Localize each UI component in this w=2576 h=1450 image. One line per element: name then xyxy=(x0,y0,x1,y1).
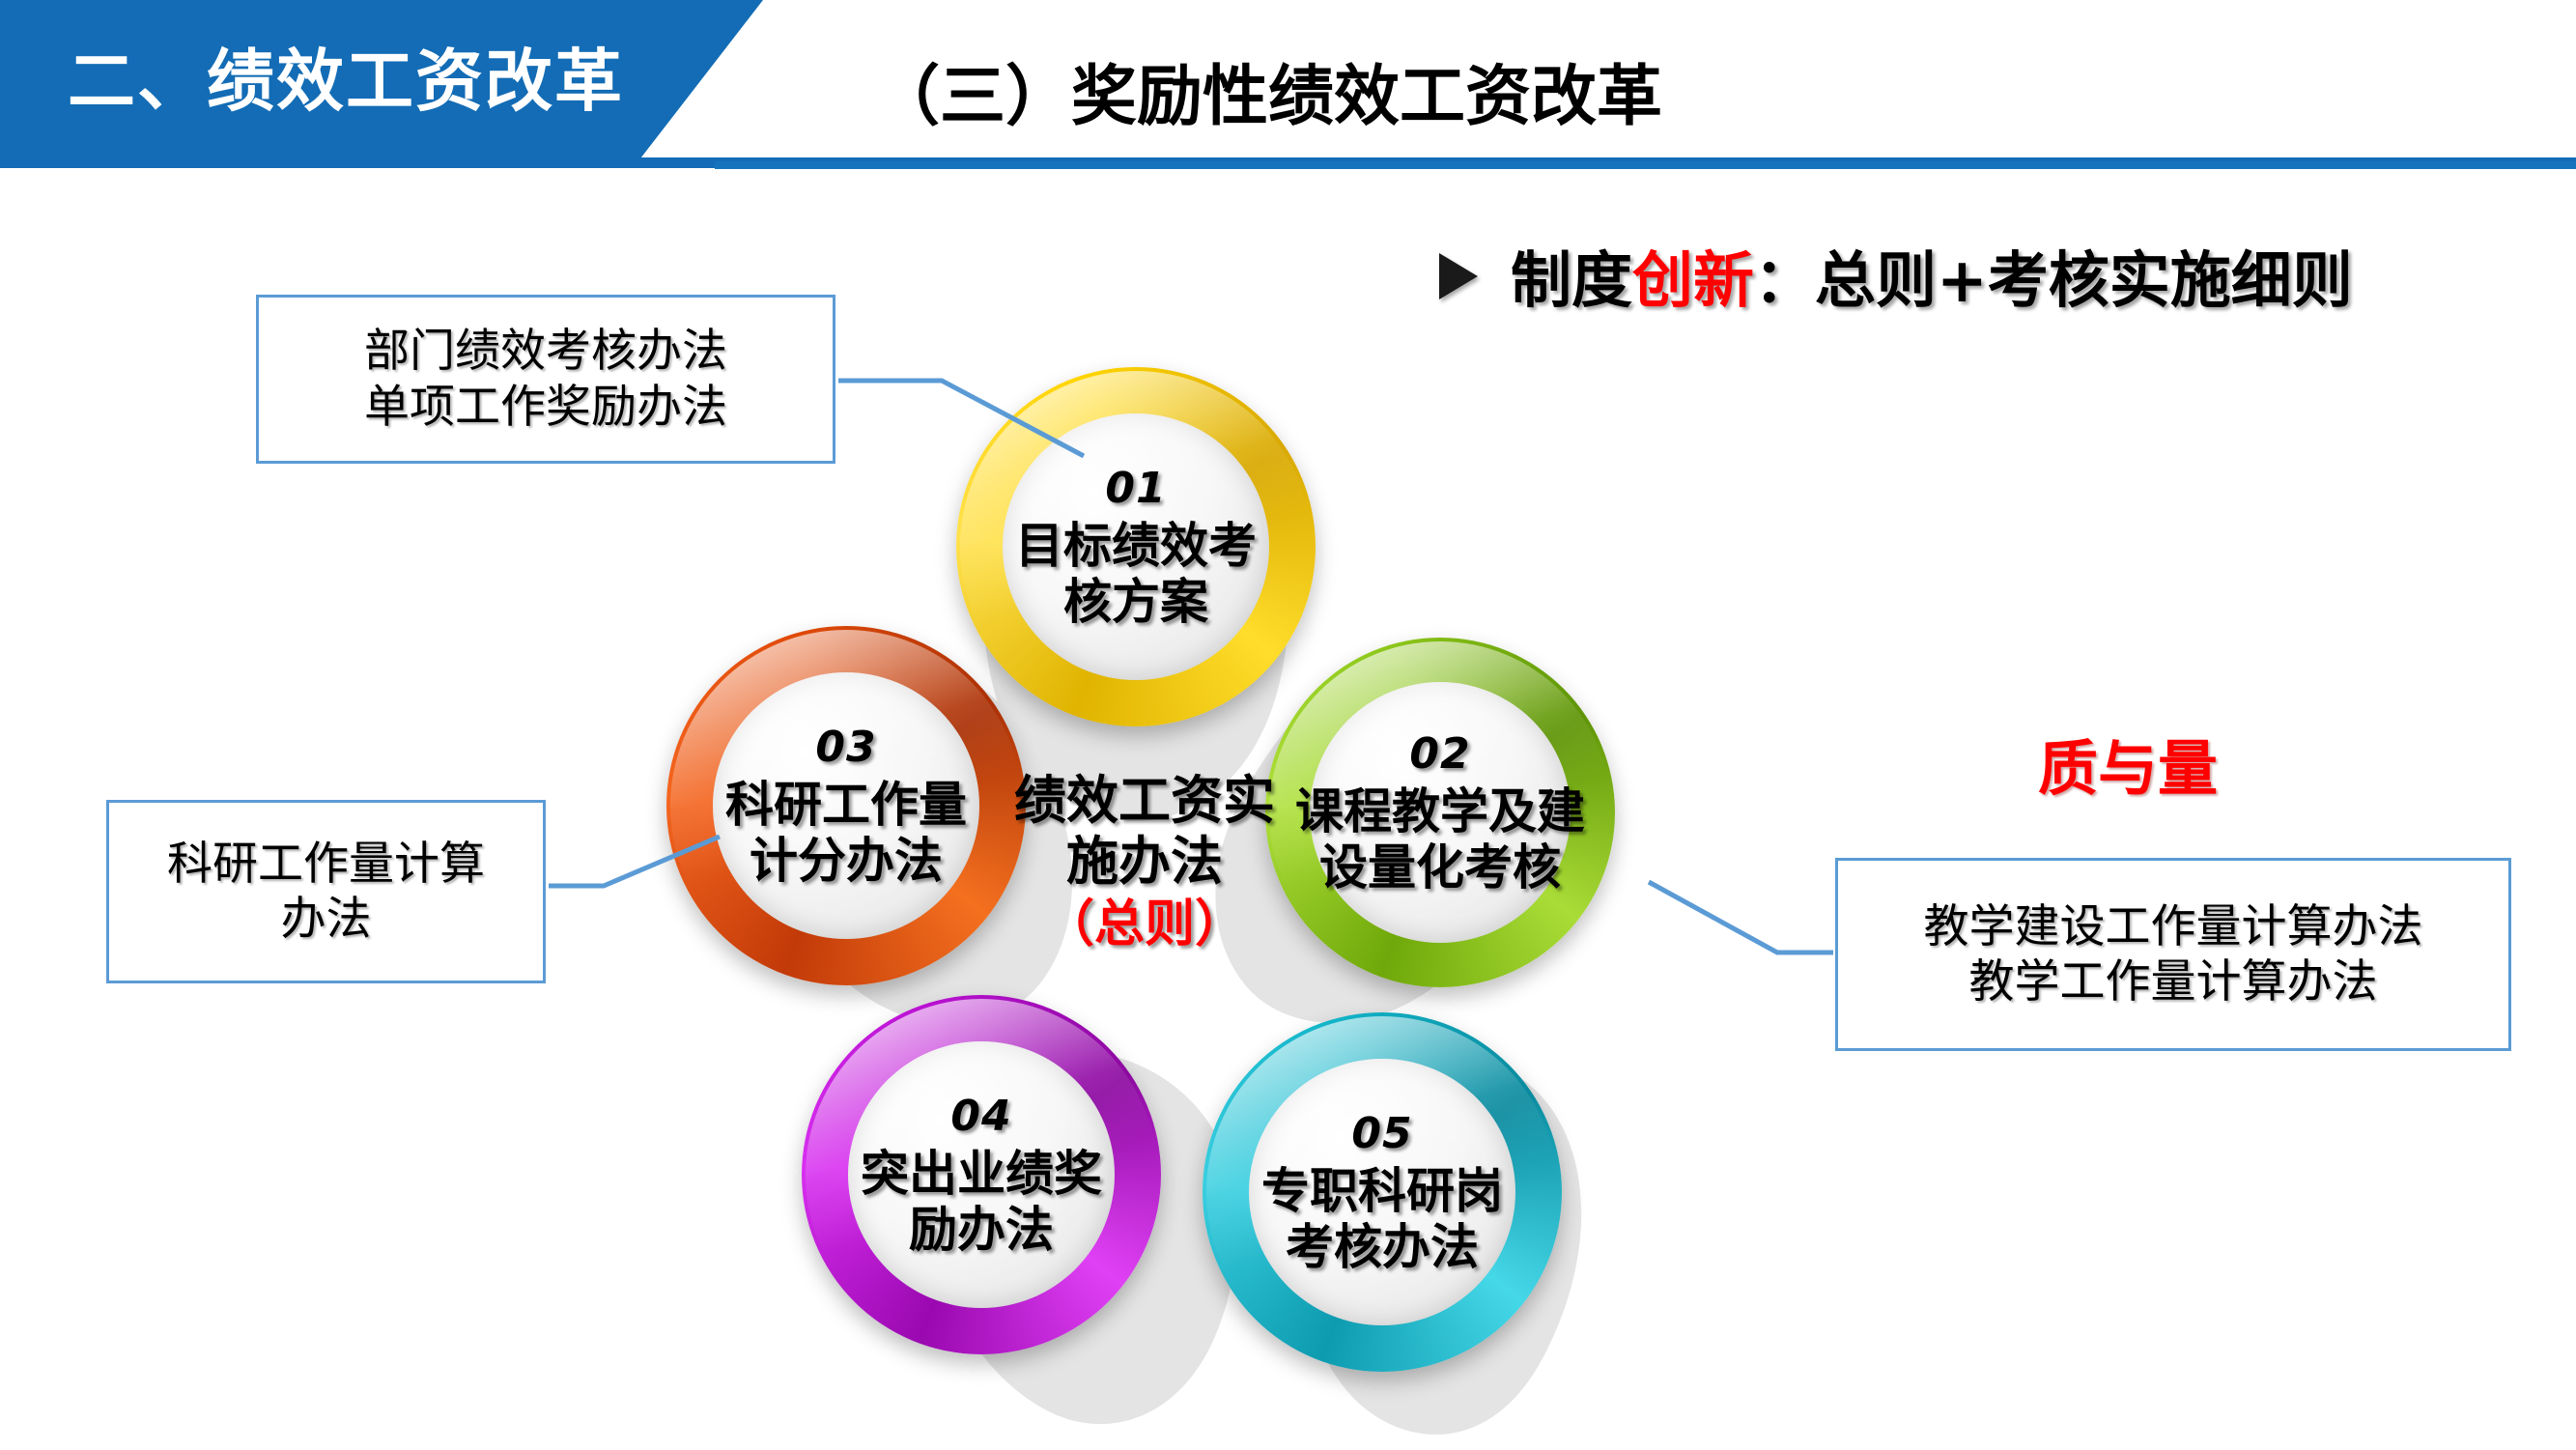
callout-box-right[interactable]: 教学建设工作量计算办法 教学工作量计算办法 xyxy=(1835,858,2511,1051)
ring-01[interactable]: 01 目标绩效考 核方案 xyxy=(956,367,1316,726)
ring-02-label: 02 课程教学及建 设量化考核 xyxy=(1295,729,1585,895)
page-title: （三）奖励性绩效工资改革 xyxy=(874,43,1662,138)
ring-04[interactable]: 04 突出业绩奖 励办法 xyxy=(802,995,1161,1354)
institution-innovation-bullet: 制度创新：总则+考核实施细则 xyxy=(1439,232,2353,320)
ring-01-text-line-2: 核方案 xyxy=(1015,574,1257,630)
quality-quantity-label: 质与量 xyxy=(2038,720,2218,807)
callout-left-line-1: 科研工作量计算 xyxy=(167,837,485,892)
ring-04-text-line-1: 突出业绩奖 xyxy=(861,1146,1102,1202)
ring-04-text-line-2: 励办法 xyxy=(861,1202,1102,1258)
ring-01-number: 01 xyxy=(1015,464,1257,513)
ring-03-text-line-2: 计分办法 xyxy=(725,833,967,889)
ring-05-text-line-2: 考核办法 xyxy=(1261,1219,1503,1275)
center-line-2: 施办法 xyxy=(985,832,1304,893)
ring-01-label: 01 目标绩效考 核方案 xyxy=(1015,464,1257,629)
callout-right-line-1: 教学建设工作量计算办法 xyxy=(1924,899,2423,954)
ring-02-number: 02 xyxy=(1295,729,1585,779)
callout-left-line-2: 办法 xyxy=(281,892,372,947)
ring-04-number: 04 xyxy=(861,1092,1102,1141)
ring-05-label: 05 专职科研岗 考核办法 xyxy=(1261,1109,1503,1274)
center-line-1: 绩效工资实 xyxy=(985,771,1304,832)
ring-04-label: 04 突出业绩奖 励办法 xyxy=(861,1092,1102,1257)
ring-05-text-line-1: 专职科研岗 xyxy=(1261,1163,1503,1219)
circular-diagram: 01 目标绩效考 核方案 02 课程教学及建 设量化考核 03 科研工作量 计分… xyxy=(666,367,1690,1439)
ring-03-label: 03 科研工作量 计分办法 xyxy=(725,723,967,888)
header-divider-rule-secondary xyxy=(715,161,2576,169)
bullet-highlight: 创新 xyxy=(1632,245,1754,316)
ring-02-text-line-1: 课程教学及建 xyxy=(1295,783,1585,839)
bullet-prefix: 制度 xyxy=(1511,245,1632,316)
bullet-suffix: ：总则+考核实施细则 xyxy=(1754,245,2353,316)
slide-canvas: 二、绩效工资改革 （三）奖励性绩效工资改革 制度创新：总则+考核实施细则 质与量… xyxy=(0,0,2576,1450)
ring-02-text-line-2: 设量化考核 xyxy=(1295,839,1585,896)
ring-03[interactable]: 03 科研工作量 计分办法 xyxy=(666,626,1026,985)
ring-05-number: 05 xyxy=(1261,1109,1503,1158)
ring-03-number: 03 xyxy=(725,723,967,772)
ring-05[interactable]: 05 专职科研岗 考核办法 xyxy=(1203,1012,1562,1372)
callout-right-line-2: 教学工作量计算办法 xyxy=(1969,954,2378,1009)
ring-03-text-line-1: 科研工作量 xyxy=(725,777,967,833)
callout-box-left[interactable]: 科研工作量计算 办法 xyxy=(106,800,546,983)
bullet-text: 制度创新：总则+考核实施细则 xyxy=(1511,232,2353,320)
arrow-bullet-icon xyxy=(1439,253,1478,299)
center-subtitle: （总则） xyxy=(985,896,1304,953)
header-banner-label: 二、绩效工资改革 xyxy=(68,27,624,125)
ring-02[interactable]: 02 课程教学及建 设量化考核 xyxy=(1265,638,1615,987)
diagram-center-label: 绩效工资实 施办法 （总则） xyxy=(985,771,1304,954)
ring-01-text-line-1: 目标绩效考 xyxy=(1015,518,1257,574)
